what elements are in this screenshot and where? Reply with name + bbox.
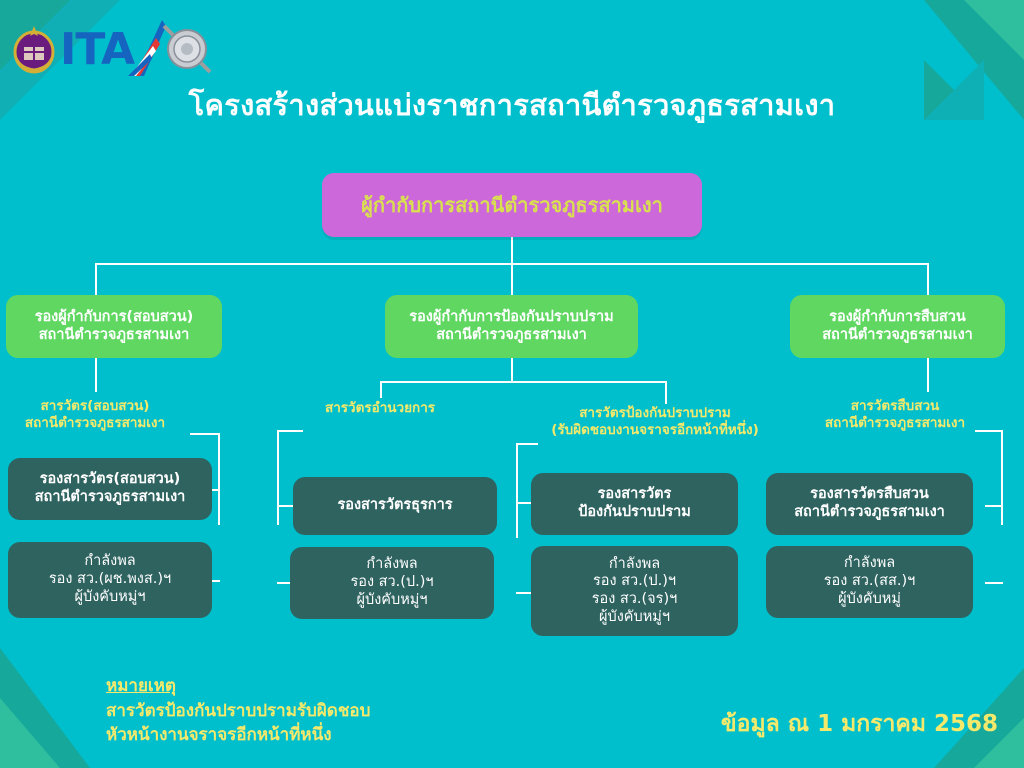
node-label: รองผู้กำกับการป้องกันปราบปราม สถานีตำรวจ…: [409, 309, 613, 344]
connector-deputy-1: [95, 263, 97, 295]
connector-unit3-spine: [516, 443, 518, 538]
as-of-date: ข้อมูล ณ 1 มกราคม 2568: [721, 706, 998, 742]
connector-unit4-head: [985, 505, 1003, 507]
node-station-commander[interactable]: ผู้กำกับการสถานีตำรวจภูธรสามเงา: [322, 173, 702, 237]
node-staff-prevention[interactable]: กำลังพล รอง สว.(ป.)ฯ รอง สว.(จร)ฯ ผู้บัง…: [531, 546, 738, 636]
caption-inspector-prevention: สารวัตรป้องกันปราบปราม (รับผิดชอบงานจราจ…: [531, 405, 779, 439]
node-staff-investigation[interactable]: กำลังพล รอง สว.(ผช.พงส.)ฯ ผู้บังคับหมู่ฯ: [8, 542, 212, 618]
node-deputy-inspector-investigation[interactable]: รองสารวัตร(สอบสวน) สถานีตำรวจภูธรสามเงา: [8, 458, 212, 520]
connector-dep3-cap4: [927, 358, 929, 392]
node-label: รองสารวัตร(สอบสวน) สถานีตำรวจภูธรสามเงา: [35, 471, 186, 506]
logo-group: ITA: [6, 10, 216, 80]
caption-label: สารวัตรสืบสวน สถานีตำรวจภูธรสามเงา: [825, 398, 965, 431]
node-label: รองสารวัตรธุรการ: [337, 497, 452, 515]
org-chart-canvas: ITA โครงสร้างส่วนแบ่งราชการสถานีตำรวจภูธ…: [0, 0, 1024, 768]
connector-unit4-spine: [1001, 430, 1003, 525]
connector-deputy-2: [511, 263, 513, 295]
page-title: โครงสร้างส่วนแบ่งราชการสถานีตำรวจภูธรสาม…: [0, 82, 1024, 128]
connector-root-down: [511, 237, 513, 264]
connector-unit2-top: [277, 430, 303, 432]
node-deputy-inspector-inquiry[interactable]: รองสารวัตรสืบสวน สถานีตำรวจภูธรสามเงา: [766, 473, 973, 535]
police-medal-shield-icon: [156, 18, 218, 80]
caption-inspector-administration: สารวัตรอำนวยการ: [296, 400, 464, 417]
node-deputy-inspector-administration[interactable]: รองสารวัตรธุรการ: [293, 477, 497, 535]
node-label: กำลังพล รอง สว.(ผช.พงส.)ฯ ผู้บังคับหมู่ฯ: [49, 553, 171, 606]
footer-note-title: หมายเหตุ: [106, 674, 370, 699]
node-staff-administration[interactable]: กำลังพล รอง สว.(ป.)ฯ ผู้บังคับหมู่ฯ: [290, 547, 494, 619]
connector-dep1-cap1: [95, 358, 97, 392]
connector-unit1-top: [190, 433, 220, 435]
connector-cap3-drop: [665, 381, 667, 404]
connector-cap2-drop: [380, 381, 382, 398]
connector-dep2-bus: [380, 381, 666, 383]
connector-unit3-top: [516, 443, 538, 445]
connector-dep2-down: [511, 358, 513, 382]
footer-note-body: สารวัตรป้องกันปราบปรามรับผิดชอบ หัวหน้าง…: [106, 699, 370, 748]
node-label: รองสารวัตร ป้องกันปราบปราม: [578, 486, 691, 521]
node-label: กำลังพล รอง สว.(สส.)ฯ ผู้บังคับหมู่: [824, 555, 916, 608]
connector-deputy-3: [927, 263, 929, 295]
caption-label: สารวัตรอำนวยการ: [325, 400, 435, 416]
connector-unit2-spine: [277, 430, 279, 525]
node-deputy-investigation[interactable]: รองผู้กำกับการ(สอบสวน) สถานีตำรวจภูธรสาม…: [6, 295, 222, 358]
node-label: กำลังพล รอง สว.(ป.)ฯ รอง สว.(จร)ฯ ผู้บัง…: [592, 556, 678, 627]
node-deputy-inquiry[interactable]: รองผู้กำกับการสืบสวน สถานีตำรวจภูธรสามเง…: [790, 295, 1005, 358]
node-label: รองสารวัตรสืบสวน สถานีตำรวจภูธรสามเงา: [794, 486, 945, 521]
node-label: รองผู้กำกับการสืบสวน สถานีตำรวจภูธรสามเง…: [822, 309, 973, 344]
node-label: ผู้กำกับการสถานีตำรวจภูธรสามเงา: [361, 193, 663, 217]
node-label: รองผู้กำกับการ(สอบสวน) สถานีตำรวจภูธรสาม…: [35, 309, 194, 344]
connector-unit1-spine: [218, 433, 220, 525]
thai-police-emblem-icon: [10, 22, 58, 74]
node-staff-inquiry[interactable]: กำลังพล รอง สว.(สส.)ฯ ผู้บังคับหมู่: [766, 546, 973, 618]
node-deputy-crime-prevention[interactable]: รองผู้กำกับการป้องกันปราบปราม สถานีตำรวจ…: [385, 295, 638, 358]
caption-inspector-inquiry: สารวัตรสืบสวน สถานีตำรวจภูธรสามเงา: [800, 398, 990, 432]
node-label: กำลังพล รอง สว.(ป.)ฯ ผู้บังคับหมู่ฯ: [350, 556, 433, 609]
node-deputy-inspector-prevention[interactable]: รองสารวัตร ป้องกันปราบปราม: [531, 473, 738, 535]
footer-note: หมายเหตุ สารวัตรป้องกันปราบปรามรับผิดชอบ…: [106, 674, 370, 748]
connector-unit4-staff: [985, 582, 1003, 584]
caption-label: สารวัตร(สอบสวน) สถานีตำรวจภูธรสามเงา: [25, 398, 165, 431]
caption-label: สารวัตรป้องกันปราบปราม (รับผิดชอบงานจราจ…: [551, 405, 759, 438]
caption-inspector-investigation: สารวัตร(สอบสวน) สถานีตำรวจภูธรสามเงา: [0, 398, 190, 432]
